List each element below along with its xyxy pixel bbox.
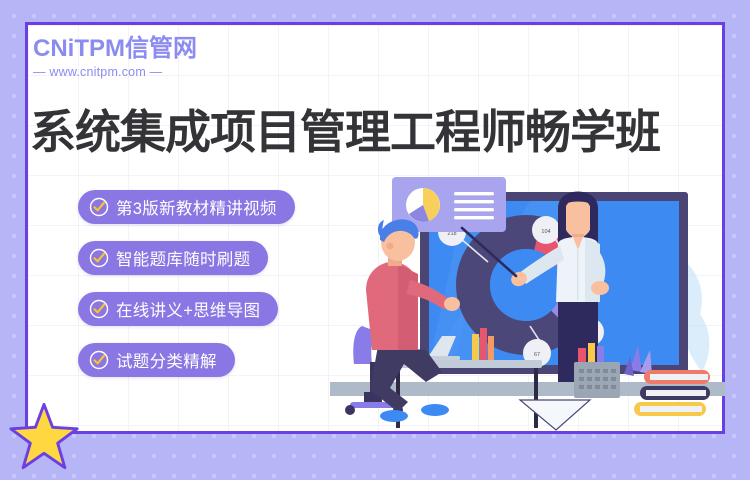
feature-label: 智能题库随时刷题: [116, 246, 250, 270]
online-classroom-illustration: 218 104 48 67: [330, 150, 725, 432]
feature-list: 第3版新教材精讲视频 智能题库随时刷题 在线讲义+思维导图 试题分类精解: [78, 190, 295, 394]
brand-url: — www.cnitpm.com —: [33, 65, 197, 79]
card-line: [454, 200, 494, 203]
star-icon: [8, 400, 80, 472]
pencil-cup: [574, 343, 620, 398]
callout-label: 104: [541, 229, 550, 235]
check-circle-icon: [89, 248, 109, 268]
callout-label: 67: [534, 352, 540, 358]
feature-label: 试题分类精解: [116, 348, 217, 372]
page-title: 系统集成项目管理工程师畅学班: [30, 96, 660, 162]
donut-callout-2: 104: [532, 216, 560, 244]
card-line: [454, 216, 494, 219]
book-stack: [634, 370, 710, 416]
pie-chart-mini: [406, 188, 440, 222]
feature-pill-4[interactable]: 试题分类精解: [78, 343, 235, 377]
feature-label: 第3版新教材精讲视频: [116, 195, 277, 219]
check-circle-icon: [89, 350, 109, 370]
feature-pill-1[interactable]: 第3版新教材精讲视频: [78, 190, 295, 224]
check-circle-icon: [89, 197, 109, 217]
feature-label: 在线讲义+思维导图: [116, 297, 260, 321]
shoe: [421, 404, 449, 416]
feature-pill-2[interactable]: 智能题库随时刷题: [78, 241, 268, 275]
paper-fan: [520, 400, 590, 430]
shoe: [380, 410, 408, 422]
card-line: [454, 208, 494, 211]
card-line: [454, 192, 494, 195]
brand-logo: CNiTPM信管网 — www.cnitpm.com —: [33, 36, 197, 79]
hand: [444, 297, 460, 311]
check-circle-icon: [89, 299, 109, 319]
feature-pill-3[interactable]: 在线讲义+思维导图: [78, 292, 278, 326]
brand-name: CNiTPM信管网: [33, 36, 197, 62]
